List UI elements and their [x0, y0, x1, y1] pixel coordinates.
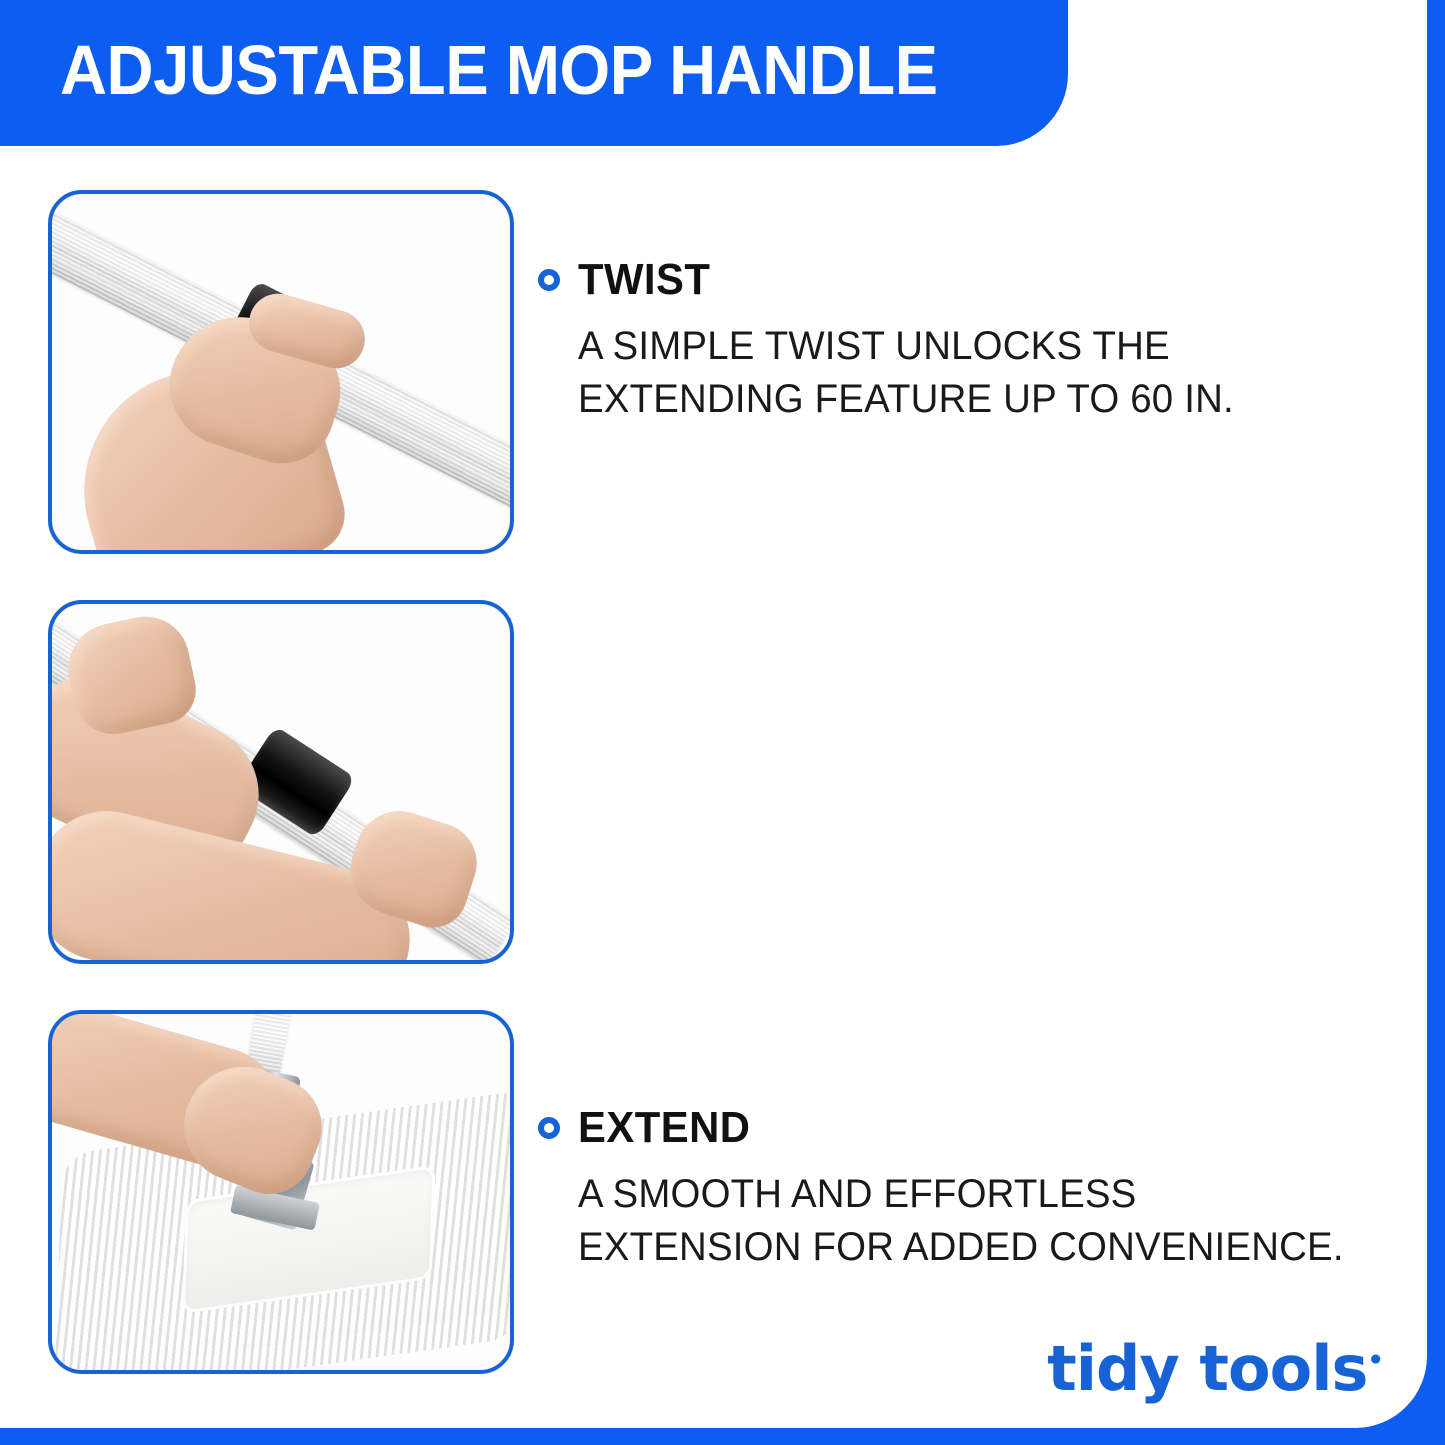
feature-row: EXTEND A SMOOTH AND EFFORTLESS EXTENSION… — [0, 556, 1427, 966]
brand-logo-mark: • — [1367, 1345, 1383, 1375]
feature-row: SECURE EFFORTLESSLY ATTACH THE EXTENDABL… — [0, 966, 1427, 1376]
header-banner: ADJUSTABLE MOP HANDLE — [0, 0, 1068, 146]
feature-image-twist — [48, 190, 514, 554]
feature-image-secure — [48, 1010, 514, 1374]
brand-logo-text: tidy tools — [1047, 1332, 1367, 1405]
ring-bullet-icon — [538, 269, 560, 291]
product-infographic: ADJUSTABLE MOP HANDLE TWIST A SIMPLE TWI… — [0, 0, 1445, 1445]
page-title: ADJUSTABLE MOP HANDLE — [60, 28, 938, 112]
frame-right-border — [1427, 0, 1445, 1445]
brand-logo: tidy tools• — [1047, 1338, 1383, 1400]
feature-text-twist: TWIST A SIMPLE TWIST UNLOCKS THE EXTENDI… — [538, 256, 1398, 426]
feature-body: A SIMPLE TWIST UNLOCKS THE EXTENDING FEA… — [578, 320, 1365, 426]
feature-title: TWIST — [578, 256, 710, 304]
feature-image-extend — [48, 600, 514, 964]
frame-bottom-border — [0, 1428, 1445, 1445]
feature-heading: TWIST — [538, 256, 1398, 304]
feature-list: TWIST A SIMPLE TWIST UNLOCKS THE EXTENDI… — [0, 146, 1427, 1376]
feature-row: TWIST A SIMPLE TWIST UNLOCKS THE EXTENDI… — [0, 146, 1427, 556]
